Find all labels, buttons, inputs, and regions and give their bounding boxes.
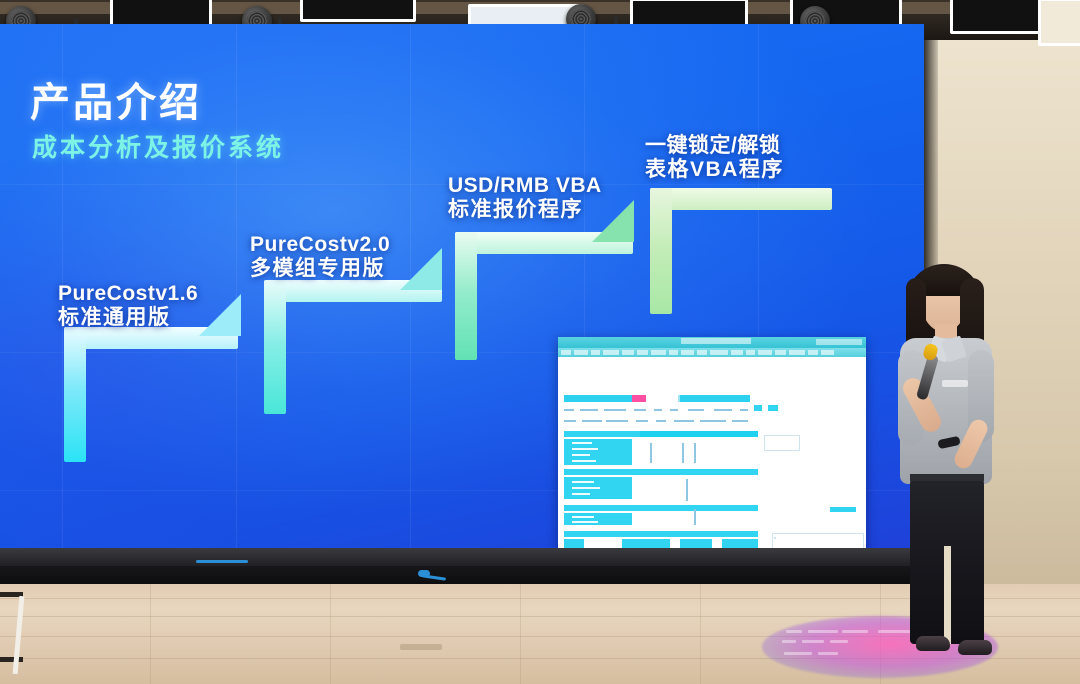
step-arrow-1-icon [199, 294, 241, 336]
spreadsheet-grid [558, 357, 866, 559]
spreadsheet-screenshot [558, 337, 866, 559]
ceiling-panel [1038, 0, 1080, 46]
led-wall-screen: 产品介绍 成本分析及报价系统 PureCostv1.6 标准通用版 PureCo… [0, 24, 924, 572]
ceiling-panel [950, 0, 1042, 34]
spreadsheet-ribbon [558, 348, 866, 357]
ceiling-panel [300, 0, 416, 22]
step-riser [64, 327, 86, 462]
staircase-step-1 [64, 327, 238, 462]
stage-photo-scene: 产品介绍 成本分析及报价系统 PureCostv1.6 标准通用版 PureCo… [0, 0, 1080, 684]
staircase-step-4 [650, 188, 832, 314]
step-riser [455, 232, 477, 360]
step-label-2-line2: 多模组专用版 [250, 257, 390, 281]
step-label-1-line1: PureCostv1.6 [58, 282, 198, 306]
presenter [886, 258, 1006, 684]
step-label-4: 一键锁定/解锁 表格VBA程序 [645, 134, 784, 183]
step-label-1: PureCostv1.6 标准通用版 [58, 282, 198, 331]
shirt-logo [942, 380, 968, 387]
step-arrow-2-icon [400, 248, 442, 290]
presentation-slide: 产品介绍 成本分析及报价系统 PureCostv1.6 标准通用版 PureCo… [0, 24, 924, 572]
leg-gap [944, 546, 951, 644]
step-label-4-line2: 表格VBA程序 [645, 158, 784, 182]
floor-cable [196, 560, 248, 563]
step-label-4-line1: 一键锁定/解锁 [645, 134, 784, 158]
step-riser [264, 280, 286, 414]
staircase-step-2 [264, 280, 442, 414]
step-label-3-line2: 标准报价程序 [448, 198, 602, 222]
belt [910, 474, 984, 481]
step-tread [650, 188, 832, 210]
step-label-2: PureCostv2.0 多模组专用版 [250, 233, 390, 282]
slide-title: 产品介绍 [30, 70, 202, 128]
shoe-left [916, 636, 950, 651]
step-label-2-line1: PureCostv2.0 [250, 233, 390, 257]
stacked-chair [0, 592, 52, 678]
step-riser [650, 188, 672, 314]
step-label-3-line1: USD/RMB VBA [448, 174, 602, 198]
spreadsheet-title-bar [558, 337, 866, 348]
led-wall-kickplate [0, 566, 938, 586]
step-label-1-line2: 标准通用版 [58, 306, 198, 330]
floor-scuff-mark [400, 644, 442, 650]
slide-subtitle: 成本分析及报价系统 [32, 128, 284, 164]
step-label-3: USD/RMB VBA 标准报价程序 [448, 174, 602, 223]
shoe-right [958, 640, 992, 655]
